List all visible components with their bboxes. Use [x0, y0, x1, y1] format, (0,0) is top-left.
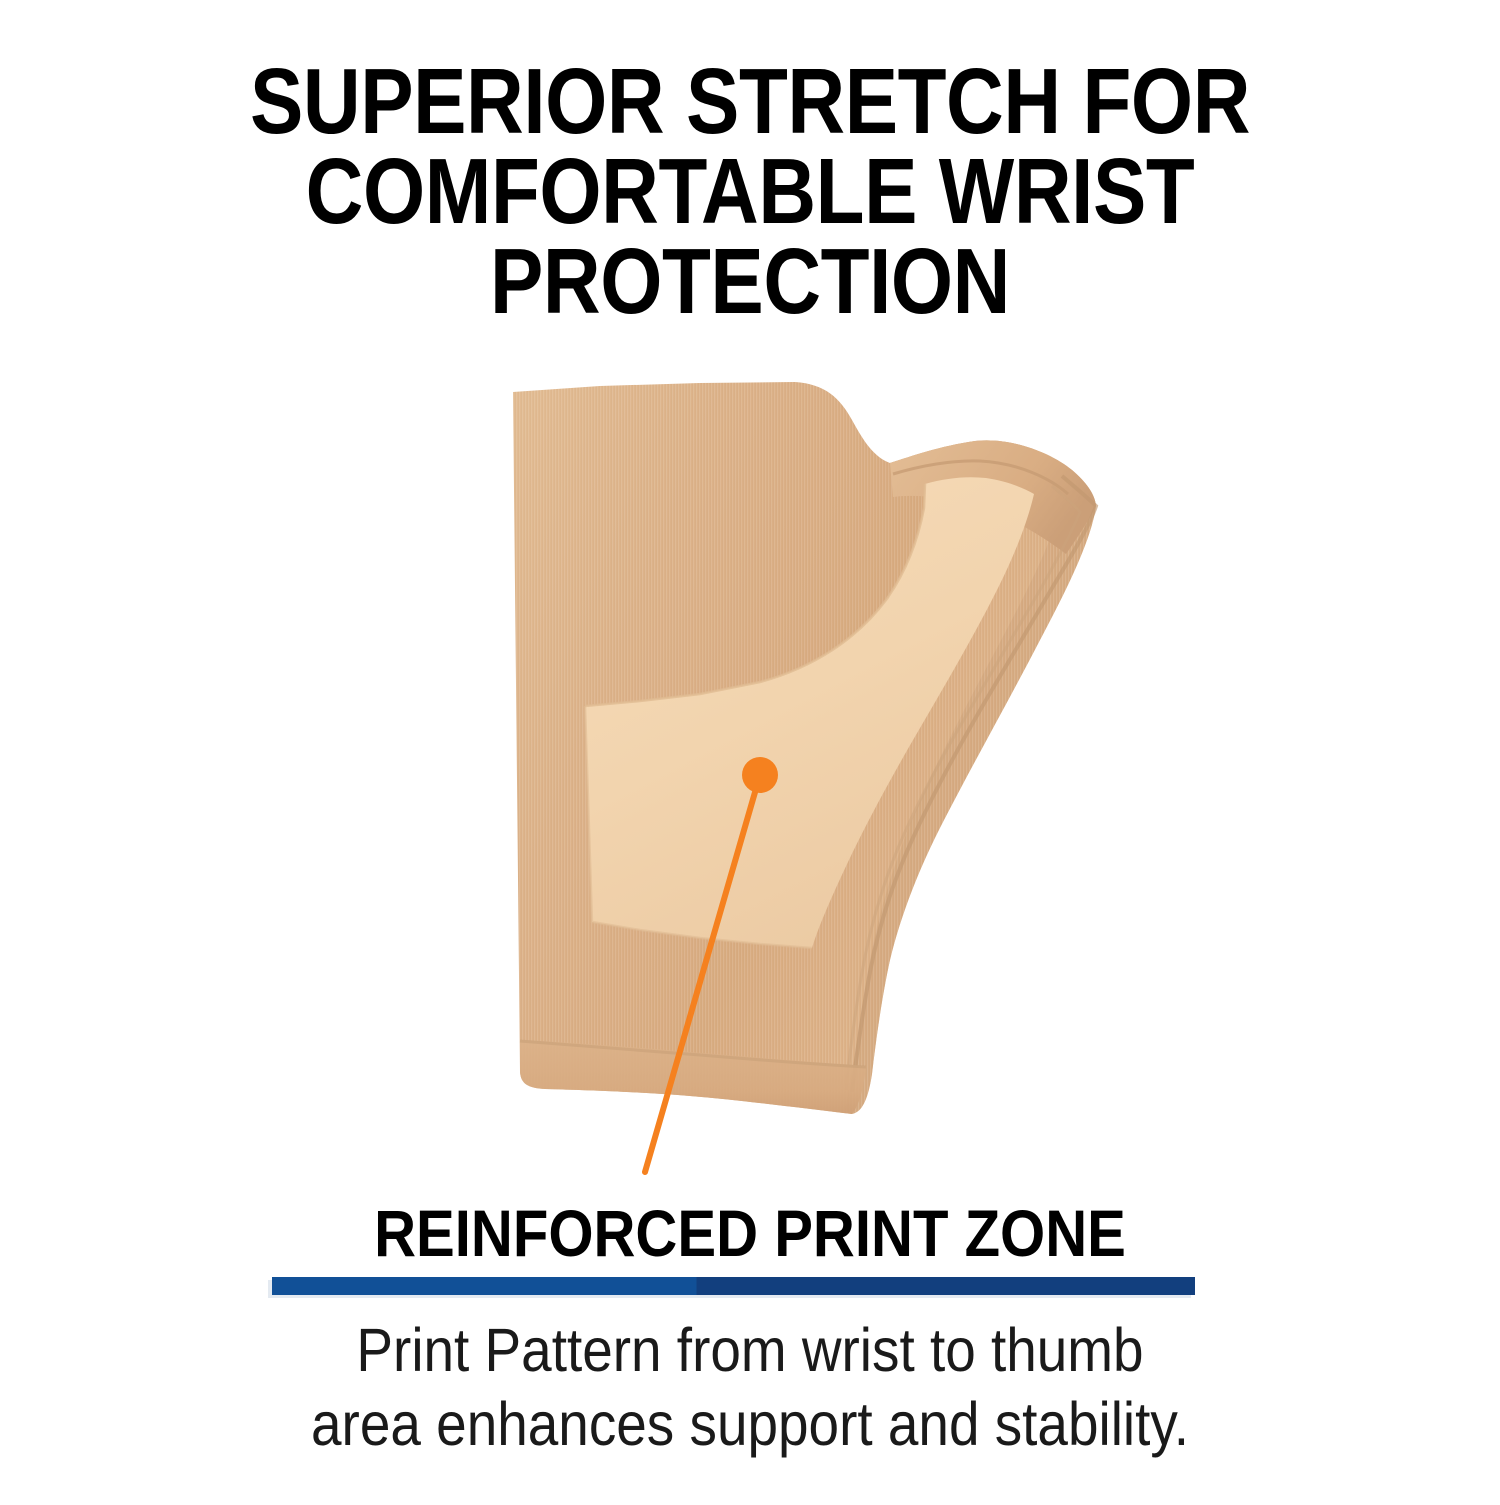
print-zone-top-edge	[585, 484, 925, 706]
caption-body: Print Pattern from wrist to thumb area e…	[75, 1313, 1425, 1461]
sleeve-body	[480, 360, 1140, 1150]
divider	[0, 1275, 1500, 1301]
callout-dot	[742, 757, 778, 793]
caption-block: REINFORCED PRINT ZONE Print Pattern from…	[0, 1198, 1500, 1461]
thumb-seam-line	[893, 461, 1068, 494]
wrist-cuff	[520, 1040, 866, 1114]
fabric-texture	[480, 360, 1140, 1150]
caption-title: REINFORCED PRINT ZONE	[90, 1198, 1410, 1268]
callout-line	[645, 775, 760, 1172]
cuff-seam-line	[520, 1041, 866, 1067]
infographic-root: SUPERIOR STRETCH FOR COMFORTABLE WRIST P…	[0, 0, 1500, 1500]
thumb-tab	[846, 440, 1096, 1092]
callout-pointer	[645, 757, 778, 1172]
divider-bar	[272, 1277, 1195, 1295]
page-title: SUPERIOR STRETCH FOR COMFORTABLE WRIST P…	[105, 56, 1395, 326]
reinforced-print-zone	[585, 477, 1034, 948]
outer-edge-seam	[852, 476, 1096, 1092]
inner-edge-seam	[846, 486, 1080, 1090]
print-zone-bottom-edge	[585, 706, 812, 948]
